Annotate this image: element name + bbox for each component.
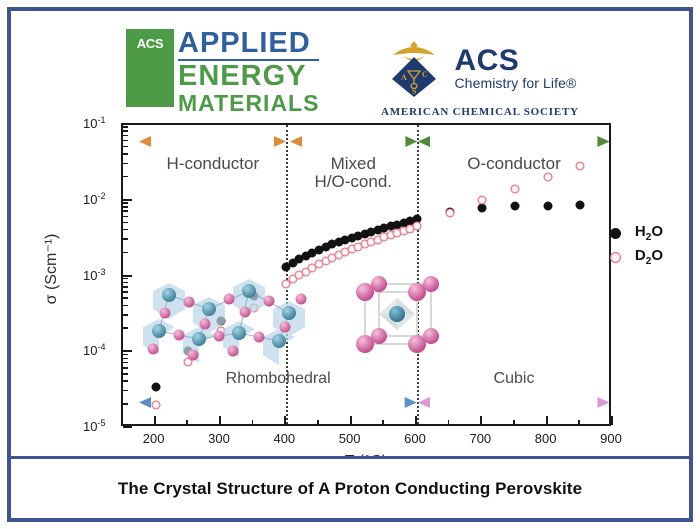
- y-tick-minor: [123, 163, 128, 165]
- x-tick-major: [611, 416, 613, 425]
- data-point-h2o: [543, 201, 552, 210]
- cover-caption: The Crystal Structure of A Proton Conduc…: [11, 456, 689, 518]
- x-tick-label: 300: [208, 431, 230, 446]
- acs-society-logo: A C S ACS Chemistry for Life® AMERICAN C…: [381, 37, 579, 118]
- legend: H2O D2O: [605, 221, 663, 269]
- conduction-region-label: MixedH/O-cond.: [290, 155, 417, 191]
- x-tick-major: [154, 416, 156, 425]
- y-tick-minor: [123, 140, 128, 142]
- x-tick-minor: [448, 420, 450, 425]
- x-tick-minor: [578, 420, 580, 425]
- filled-circle-icon: [605, 228, 627, 239]
- y-tick-major: [123, 350, 132, 352]
- journal-title-line-1: APPLIED: [178, 29, 319, 61]
- data-point-h2o: [576, 200, 585, 209]
- data-point-h2o: [478, 204, 487, 213]
- legend-item-d2o: D2O: [605, 245, 663, 269]
- y-tick-minor: [123, 314, 128, 316]
- journal-logo: ACS APPLIED ENERGY MATERIALS: [126, 29, 319, 115]
- x-tick-label: 200: [143, 431, 165, 446]
- y-tick-minor: [123, 282, 128, 284]
- x-tick-major: [415, 416, 417, 425]
- y-tick-minor: [123, 222, 128, 224]
- acs-logo-top: A C S ACS Chemistry for Life®: [383, 37, 576, 99]
- caption-text: The Crystal Structure of A Proton Conduc…: [118, 479, 582, 499]
- rhombohedral-structure-inset: [135, 269, 325, 369]
- journal-cover: ACS APPLIED ENERGY MATERIALS: [0, 0, 700, 529]
- data-point-h2o: [151, 382, 160, 391]
- conduction-region-arrow: [290, 135, 417, 147]
- svg-text:S: S: [412, 87, 417, 96]
- cover-frame: ACS APPLIED ENERGY MATERIALS: [7, 7, 693, 522]
- x-tick-label: 400: [273, 431, 295, 446]
- y-tick-major: [123, 199, 132, 201]
- conduction-region-arrow: [418, 135, 609, 147]
- y-tick-minor: [123, 380, 128, 382]
- x-tick-minor: [186, 420, 188, 425]
- data-point-d2o: [478, 196, 487, 205]
- y-tick-major: [123, 275, 132, 277]
- y-tick-minor: [123, 403, 128, 405]
- y-tick-minor: [123, 367, 128, 369]
- data-point-d2o: [445, 209, 454, 218]
- y-tick-label: 10-3: [83, 266, 110, 282]
- journal-title-line-2: ENERGY: [178, 62, 319, 91]
- x-tick-major: [350, 416, 352, 425]
- y-tick-minor: [123, 354, 128, 356]
- y-tick-minor: [123, 362, 128, 364]
- y-tick-minor: [123, 210, 128, 212]
- logo-row: ACS APPLIED ENERGY MATERIALS: [11, 11, 689, 111]
- y-tick-minor: [123, 206, 128, 208]
- y-tick-label: 10-5: [83, 418, 110, 434]
- y-tick-label: 10-4: [83, 342, 110, 358]
- phase-region-arrow: [418, 396, 609, 408]
- x-tick-major: [219, 416, 221, 425]
- conduction-region-label: H-conductor: [139, 155, 286, 173]
- phase-region-label: Rhombohedral: [139, 370, 417, 388]
- y-tick-minor: [123, 327, 128, 329]
- y-tick-minor: [123, 278, 128, 280]
- y-tick-minor: [123, 358, 128, 360]
- y-tick-minor: [123, 216, 128, 218]
- acs-logo-words: ACS Chemistry for Life®: [454, 45, 576, 91]
- x-tick-label: 500: [339, 431, 361, 446]
- conduction-region-arrow: [139, 135, 286, 147]
- data-point-h2o: [511, 202, 520, 211]
- y-tick-label: 10-1: [83, 115, 110, 131]
- acs-badge-icon: ACS: [126, 29, 174, 107]
- x-tick-label: 800: [535, 431, 557, 446]
- x-tick-minor: [252, 420, 254, 425]
- legend-label-d2o: D2O: [635, 247, 663, 267]
- acs-diamond-icon: A C S: [383, 37, 445, 99]
- y-tick-minor: [123, 126, 128, 128]
- y-tick-minor: [123, 135, 128, 137]
- y-tick-minor: [123, 286, 128, 288]
- legend-label-h2o: H2O: [635, 223, 663, 243]
- legend-item-h2o: H2O: [605, 221, 663, 245]
- journal-title-words: APPLIED ENERGY MATERIALS: [178, 29, 319, 115]
- y-tick-minor: [123, 238, 128, 240]
- y-tick-minor: [123, 291, 128, 293]
- x-tick-label: 900: [600, 431, 622, 446]
- phase-region-arrow: [139, 396, 417, 408]
- y-tick-major: [123, 123, 132, 125]
- y-tick-minor: [123, 305, 128, 307]
- y-tick-minor: [123, 390, 128, 392]
- x-tick-major: [480, 416, 482, 425]
- y-tick-major: [123, 426, 132, 428]
- acs-badge-label: ACS: [126, 36, 174, 51]
- phase-region-label: Cubic: [418, 370, 609, 388]
- x-tick-minor: [382, 420, 384, 425]
- svg-text:C: C: [422, 70, 428, 79]
- data-point-d2o: [151, 401, 160, 410]
- x-tick-label: 600: [404, 431, 426, 446]
- svg-text:A: A: [401, 73, 407, 82]
- x-tick-minor: [513, 420, 515, 425]
- data-point-d2o: [576, 161, 585, 170]
- y-tick-label: 10-2: [83, 191, 110, 207]
- y-tick-minor: [123, 130, 128, 132]
- data-point-d2o: [413, 222, 422, 231]
- y-tick-minor: [123, 176, 128, 178]
- y-tick-minor: [123, 153, 128, 155]
- y-tick-minor: [123, 297, 128, 299]
- open-circle-icon: [605, 252, 627, 263]
- y-tick-minor: [123, 146, 128, 148]
- y-tick-minor: [123, 252, 128, 254]
- x-tick-major: [284, 416, 286, 425]
- y-tick-minor: [123, 202, 128, 204]
- x-tick-minor: [317, 420, 319, 425]
- data-point-d2o: [511, 184, 520, 193]
- x-tick-major: [546, 416, 548, 425]
- y-axis-title: σ (Scm⁻¹): [41, 209, 61, 329]
- x-tick-label: 700: [469, 431, 491, 446]
- y-tick-minor: [123, 373, 128, 375]
- y-tick-minor: [123, 229, 128, 231]
- acs-acronym: ACS: [454, 45, 576, 77]
- cubic-structure-inset: [347, 274, 447, 366]
- acs-tagline: Chemistry for Life®: [454, 76, 576, 91]
- conductivity-chart: σ (Scm⁻¹) H-conductorMixedH/O-cond.O-con…: [17, 109, 677, 469]
- data-point-d2o: [543, 173, 552, 182]
